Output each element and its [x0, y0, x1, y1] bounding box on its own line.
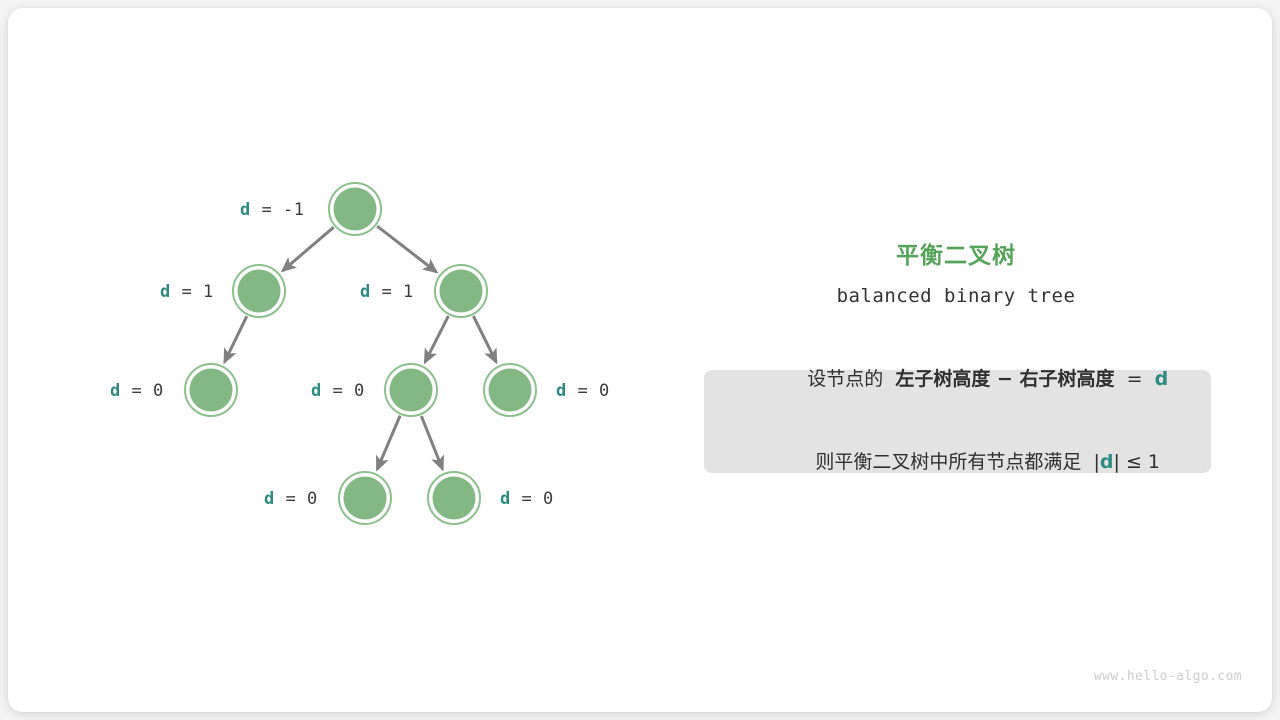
tree-node-label: d = 0 [110, 381, 164, 401]
tree-node-circle [433, 477, 476, 520]
tree-edge [283, 227, 334, 271]
binary-tree-diagram: d = -1d = 1d = 1d = 0d = 0d = 0d = 0d = … [8, 8, 668, 712]
tree-node-label-variable: d [500, 489, 511, 509]
panel-subtitle: balanced binary tree [668, 285, 1244, 307]
tree-node-label: d = -1 [240, 200, 304, 220]
tree-node [185, 364, 237, 416]
tree-node-label-value: = -1 [251, 200, 305, 220]
tree-node-circle [390, 369, 433, 412]
tree-node-circle [238, 270, 281, 313]
tree-edges [225, 226, 497, 469]
page-root: d = -1d = 1d = 1d = 0d = 0d = 0d = 0d = … [0, 0, 1280, 720]
panel-title: 平衡二叉树 [668, 236, 1244, 270]
tree-node-label: d = 0 [556, 381, 610, 401]
tree-node-label-variable: d [264, 489, 275, 509]
definition-line-2: 则平衡二叉树中所有节点都满足 |d| ≤ 1 [755, 425, 1160, 502]
tree-node-label: d = 1 [360, 282, 414, 302]
definition-line-2-prefix: 则平衡二叉树中所有节点都满足 | [815, 451, 1099, 473]
tree-node-label: d = 0 [500, 489, 554, 509]
tree-node-circle [190, 369, 233, 412]
tree-node-label-variable: d [311, 381, 322, 401]
tree-node [329, 183, 381, 235]
definition-box: 设节点的 左子树高度 − 右子树高度 = d 则平衡二叉树中所有节点都满足 |d… [704, 370, 1211, 473]
tree-svg [8, 8, 668, 712]
definition-line-1-bold: 左子树高度 − 右子树高度 [895, 368, 1114, 390]
tree-node [385, 364, 437, 416]
watermark: www.hello-algo.com [1094, 669, 1242, 684]
tree-edge [377, 416, 400, 470]
tree-node-label: d = 0 [311, 381, 365, 401]
tree-node-label-variable: d [240, 200, 251, 220]
tree-nodes [185, 183, 536, 524]
tree-node-label-variable: d [110, 381, 121, 401]
definition-line-2-suffix: | ≤ 1 [1114, 451, 1161, 473]
tree-node-label-value: = 0 [511, 489, 554, 509]
tree-node-label-value: = 0 [322, 381, 365, 401]
tree-node [233, 265, 285, 317]
definition-line-1-variable: d [1155, 368, 1169, 390]
info-panel: 平衡二叉树 balanced binary tree 设节点的 左子树高度 − … [668, 8, 1272, 712]
tree-node [484, 364, 536, 416]
tree-node-label: d = 1 [160, 282, 214, 302]
tree-node-label-variable: d [556, 381, 567, 401]
tree-node [435, 265, 487, 317]
definition-line-2-variable: d [1100, 451, 1114, 473]
tree-node-label: d = 0 [264, 489, 318, 509]
tree-node-label-value: = 1 [171, 282, 214, 302]
tree-edge [225, 316, 247, 362]
tree-node-label-value: = 0 [567, 381, 610, 401]
tree-edge [377, 226, 436, 272]
tree-node-circle [489, 369, 532, 412]
tree-node-label-value: = 0 [275, 489, 318, 509]
tree-node [428, 472, 480, 524]
tree-edge [473, 316, 496, 362]
tree-node-label-value: = 1 [371, 282, 414, 302]
definition-line-1: 设节点的 左子树高度 − 右子树高度 = d [747, 342, 1168, 419]
tree-node-label-variable: d [160, 282, 171, 302]
figure-card: d = -1d = 1d = 1d = 0d = 0d = 0d = 0d = … [8, 8, 1272, 712]
tree-edge [421, 416, 442, 469]
tree-edge [425, 316, 448, 362]
tree-node-circle [344, 477, 387, 520]
tree-node [339, 472, 391, 524]
definition-line-1-mid: = [1114, 368, 1154, 390]
tree-node-circle [440, 270, 483, 313]
definition-line-1-prefix: 设节点的 [807, 368, 895, 390]
tree-node-label-variable: d [360, 282, 371, 302]
tree-node-label-value: = 0 [121, 381, 164, 401]
tree-node-circle [334, 188, 377, 231]
